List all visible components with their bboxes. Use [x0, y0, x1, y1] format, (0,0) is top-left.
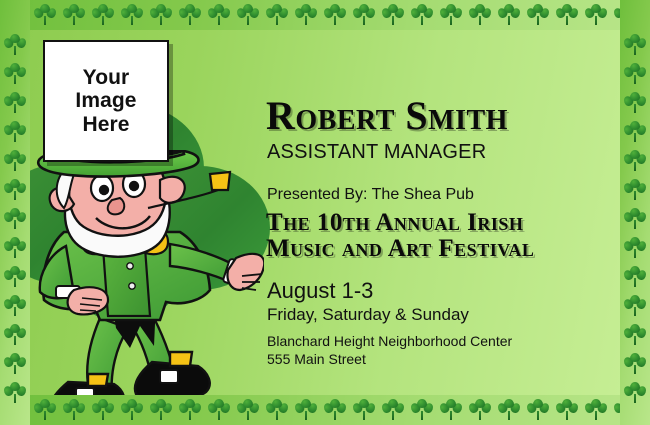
shamrock-icon — [556, 4, 578, 26]
event-ticket: Your Image Here Robert Smith ASSISTANT M… — [0, 0, 650, 425]
event-days: Friday, Saturday & Sunday — [267, 305, 626, 325]
shamrock-icon — [353, 399, 375, 421]
shamrock-icon — [5, 4, 27, 26]
event-dates: August 1-3 — [267, 278, 626, 304]
shamrock-icon — [624, 63, 646, 85]
placeholder-line-3: Here — [82, 113, 129, 137]
shamrock-icon — [498, 399, 520, 421]
shamrock-icon — [614, 4, 636, 26]
shamrock-icon — [121, 4, 143, 26]
shamrock-icon — [469, 399, 491, 421]
leprechaun-illustration — [4, 150, 264, 418]
venue-street: 555 Main Street — [267, 351, 626, 367]
shamrock-icon — [440, 4, 462, 26]
shamrock-icon — [266, 4, 288, 26]
shamrock-icon — [208, 4, 230, 26]
shamrock-border-top — [0, 0, 650, 30]
shamrock-icon — [411, 4, 433, 26]
placeholder-line-1: Your — [83, 66, 130, 90]
shamrock-icon — [295, 4, 317, 26]
shamrock-icon — [624, 121, 646, 143]
shamrock-icon — [624, 92, 646, 114]
attendee-role: ASSISTANT MANAGER — [267, 141, 626, 164]
shamrock-icon — [556, 399, 578, 421]
ticket-text-block: Robert Smith ASSISTANT MANAGER Presented… — [266, 96, 626, 369]
shamrock-icon — [382, 4, 404, 26]
shamrock-icon — [324, 4, 346, 26]
shamrock-icon — [324, 399, 346, 421]
shamrock-icon — [295, 399, 317, 421]
shamrock-icon — [624, 237, 646, 259]
shamrock-icon — [643, 4, 650, 26]
shamrock-icon — [150, 4, 172, 26]
shamrock-icon — [4, 63, 26, 85]
shamrock-icon — [624, 179, 646, 201]
shamrock-icon — [624, 382, 646, 404]
event-title-line-2: Music and Art Festival — [266, 236, 626, 262]
shamrock-icon — [614, 399, 636, 421]
attendee-name: Robert Smith — [266, 96, 626, 137]
shamrock-icon — [624, 324, 646, 346]
shamrock-icon — [624, 208, 646, 230]
placeholder-line-2: Image — [75, 89, 136, 113]
shamrock-icon — [469, 4, 491, 26]
shamrock-icon — [411, 399, 433, 421]
shamrock-icon — [92, 4, 114, 26]
shamrock-icon — [585, 4, 607, 26]
shamrock-icon — [237, 4, 259, 26]
shamrock-icon — [4, 34, 26, 56]
shamrock-icon — [643, 399, 650, 421]
shamrock-icon — [353, 4, 375, 26]
shamrock-icon — [266, 399, 288, 421]
event-title-line-1: The 10th Annual Irish — [266, 210, 626, 236]
shamrock-icon — [440, 399, 462, 421]
shamrock-icon — [624, 353, 646, 375]
shamrock-icon — [63, 4, 85, 26]
shamrock-icon — [624, 150, 646, 172]
shamrock-icon — [498, 4, 520, 26]
shamrock-icon — [624, 266, 646, 288]
shamrock-icon — [382, 399, 404, 421]
shamrock-icon — [624, 295, 646, 317]
shamrock-icon — [624, 34, 646, 56]
presented-by: Presented By: The Shea Pub — [267, 186, 626, 204]
shamrock-icon — [527, 399, 549, 421]
shamrock-icon — [527, 4, 549, 26]
shamrock-icon — [585, 399, 607, 421]
shamrock-icon — [34, 4, 56, 26]
image-placeholder[interactable]: Your Image Here — [43, 40, 169, 162]
venue-name: Blanchard Height Neighborhood Center — [267, 333, 626, 349]
shamrock-icon — [179, 4, 201, 26]
